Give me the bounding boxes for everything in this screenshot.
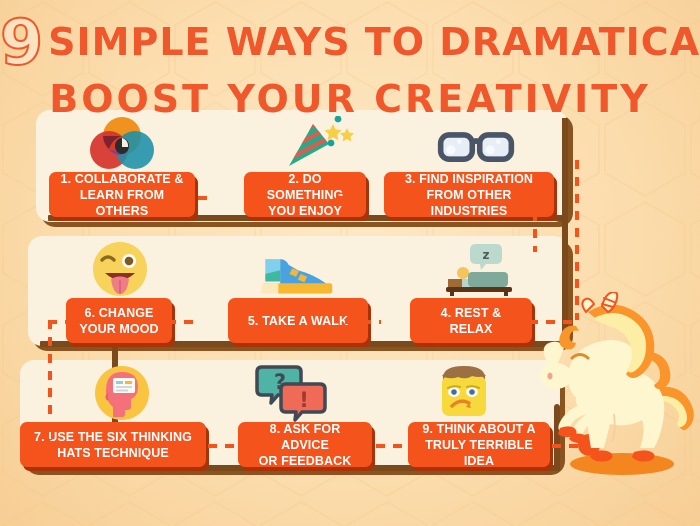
card-3-label: 3. FIND INSPIRATIONFROM OTHER INDUSTRIES (392, 171, 546, 219)
card-6-label: 6. CHANGEYOUR MOOD (79, 305, 158, 337)
dash-connector-7-8 (208, 444, 242, 448)
title-line-2: BOOST YOUR CREATIVITY (0, 80, 700, 118)
question-exclamation-speech-bubbles-icon: ? ! (250, 364, 330, 422)
row-3: ? ! 7. USE (20, 360, 560, 478)
icon-slot-7 (82, 364, 162, 422)
thinking-head-icon (91, 364, 153, 422)
dash-connector-3-down (533, 212, 537, 252)
card-9[interactable]: 9. THINK ABOUT ATRULY TERRIBLE IDEA (408, 422, 550, 467)
title-number: 9 (0, 6, 43, 79)
sleeping-in-bed-icon: z (440, 242, 520, 298)
card-8-label: 8. ASK FOR ADVICEOR FEEDBACK (246, 421, 364, 469)
title-line-1-text: SIMPLE WAYS TO DRAMATICALLY (48, 20, 700, 64)
row-2: z 6. CHANGEYOUR MOOD 5. TAKE A WALK 4. R… (28, 236, 568, 354)
svg-text:z: z (483, 248, 490, 262)
card-7-label: 7. USE THE SIX THINKINGHATS TECHNIQUE (34, 429, 192, 461)
page-title: 9SIMPLE WAYS TO DRAMATICALLY BOOST YOUR … (0, 12, 700, 118)
svg-text:!: ! (299, 388, 309, 412)
card-1-label: 1. COLLABORATE &LEARN FROM OTHERS (57, 171, 187, 219)
icon-slot-5 (256, 240, 336, 298)
dash-connector-2-3 (336, 196, 352, 200)
card-2-label: 2. DO SOMETHINGYOU ENJOY (252, 171, 358, 219)
overlapping-color-circles-icon (86, 116, 158, 172)
sneaker-icon (256, 250, 336, 298)
party-popper-icon (277, 116, 355, 172)
dash-connector-4-5 (345, 320, 381, 324)
icon-slot-6 (80, 240, 160, 298)
card-9-label: 9. THINK ABOUT ATRULY TERRIBLE IDEA (416, 421, 542, 469)
icon-slot-4: z (440, 240, 520, 298)
dash-connector-8-9 (376, 444, 410, 448)
card-8[interactable]: 8. ASK FOR ADVICEOR FEEDBACK (238, 422, 372, 467)
eyeglasses-icon (436, 124, 516, 172)
winking-tongue-face-icon (89, 240, 151, 298)
card-4-label: 4. REST & RELAX (418, 305, 524, 337)
card-5-label: 5. TAKE A WALK (248, 313, 348, 329)
card-2[interactable]: 2. DO SOMETHINGYOU ENJOY (244, 172, 366, 217)
dash-connector-1-2 (164, 196, 210, 200)
row-1: 1. COLLABORATE &LEARN FROM OTHERS 2. DO … (36, 110, 568, 230)
dash-connector-left-down (48, 320, 52, 440)
card-3[interactable]: 3. FIND INSPIRATIONFROM OTHER INDUSTRIES (384, 172, 554, 217)
title-line-1: 9SIMPLE WAYS TO DRAMATICALLY (0, 12, 700, 74)
icon-slot-2 (276, 114, 356, 172)
dash-connector-5-6 (150, 320, 198, 324)
icon-slot-3 (436, 114, 516, 172)
icon-slot-8: ? ! (250, 364, 330, 422)
card-1[interactable]: 1. COLLABORATE &LEARN FROM OTHERS (49, 172, 195, 217)
infographic-canvas: 9SIMPLE WAYS TO DRAMATICALLY BOOST YOUR … (0, 0, 700, 526)
unicorn-mascot (530, 292, 700, 477)
icon-slot-9 (424, 364, 504, 422)
icon-slot-1 (82, 114, 162, 172)
frowning-face-icon (434, 364, 494, 422)
